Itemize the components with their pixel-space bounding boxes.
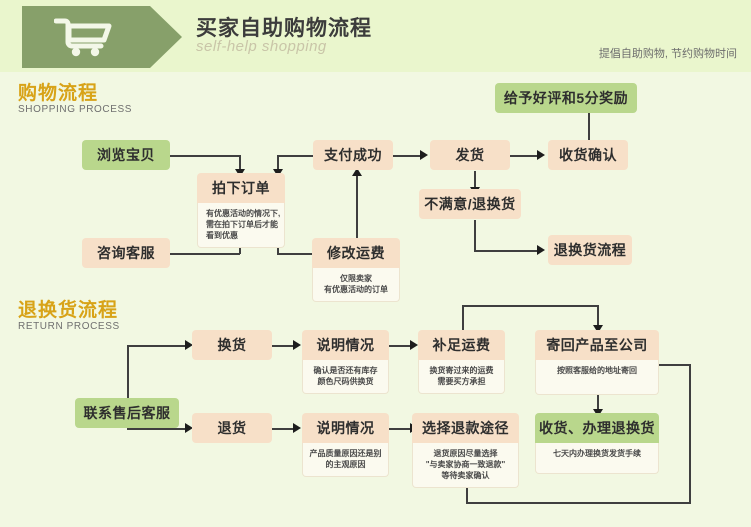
node-extra-freight[interactable]: 补足运费 换货寄过来的运费 需要买方承担 [418,330,505,394]
connector [389,428,412,430]
connector [588,112,590,140]
node-reward[interactable]: 给予好评和5分奖励 [495,83,637,113]
node-confirm-receipt[interactable]: 收货确认 [548,140,628,170]
connector [474,220,476,251]
node-extra-freight-note: 换货寄过来的运费 需要买方承担 [418,360,505,394]
arrowhead [537,150,545,160]
node-modify-freight-note: 仅限卖家 有优惠活动的订单 [312,268,400,302]
node-choose-refund-note: 退货原因尽量选择 "与卖家协商一致退款" 等待卖家确认 [412,443,519,488]
connector [127,428,187,430]
connector [356,175,358,240]
node-contact-service-label: 联系售后客服 [75,398,179,428]
node-send-back-label: 寄回产品至公司 [535,330,659,360]
header-tagline: 提倡自助购物, 节约购物时间 [599,45,737,61]
node-explain-refund-label: 说明情况 [302,413,389,443]
node-consult-label: 咨询客服 [82,238,170,268]
connector [272,345,295,347]
page-header: 买家自助购物流程 self-help shopping 提倡自助购物, 节约购物… [0,0,751,72]
page-subtitle: self-help shopping [196,38,327,55]
node-place-order-label: 拍下订单 [197,173,285,203]
node-pay-success-label: 支付成功 [313,140,393,170]
node-browse-label: 浏览宝贝 [82,140,170,170]
connector [462,305,464,333]
node-ship[interactable]: 发货 [430,140,510,170]
arrowhead [293,340,301,350]
node-dissatisfied[interactable]: 不满意/退换货 [419,189,521,219]
return-title-cn: 退换货流程 [18,300,120,321]
node-refund[interactable]: 退货 [192,413,272,443]
node-explain-refund[interactable]: 说明情况 产品质量原因还是别 的主观原因 [302,413,389,477]
return-title-en: RETURN PROCESS [18,321,120,333]
node-contact-service[interactable]: 联系售后客服 [75,398,179,428]
return-section-title: 退换货流程 RETURN PROCESS [18,300,120,333]
node-ship-label: 发货 [430,140,510,170]
node-refund-label: 退货 [192,413,272,443]
connector [466,502,690,504]
node-pay-success[interactable]: 支付成功 [313,140,393,170]
node-modify-freight[interactable]: 修改运费 仅限卖家 有优惠活动的订单 [312,238,400,302]
connector [474,250,538,252]
node-consult[interactable]: 咨询客服 [82,238,170,268]
node-confirm-receipt-label: 收货确认 [548,140,628,170]
node-return-flow-label: 退换货流程 [548,235,632,265]
shopping-title-cn: 购物流程 [18,83,132,104]
node-place-order[interactable]: 拍下订单 有优惠活动的情况下, 需在拍下订单后才能 看到优惠 [197,173,285,248]
infographic-page: 买家自助购物流程 self-help shopping 提倡自助购物, 节约购物… [0,0,751,527]
node-choose-refund-label: 选择退款途径 [412,413,519,443]
node-browse[interactable]: 浏览宝贝 [82,140,170,170]
node-receive-process-note: 七天内办理换货发货手续 [535,443,659,474]
connector [510,155,540,157]
node-receive-process[interactable]: 收货、办理退换货 七天内办理换货发货手续 [535,413,659,474]
arrowhead [293,423,301,433]
node-modify-freight-label: 修改运费 [312,238,400,268]
connector [689,364,691,504]
node-choose-refund[interactable]: 选择退款途径 退货原因尽量选择 "与卖家协商一致退款" 等待卖家确认 [412,413,519,488]
connector [389,345,412,347]
node-receive-process-label: 收货、办理退换货 [535,413,659,443]
shopping-title-en: SHOPPING PROCESS [18,104,132,116]
connector [393,155,423,157]
node-reward-label: 给予好评和5分奖励 [495,83,637,113]
node-extra-freight-label: 补足运费 [418,330,505,360]
arrowhead [420,150,428,160]
connector [170,155,240,157]
node-explain-exchange-label: 说明情况 [302,330,389,360]
connector [655,364,690,366]
connector [272,428,295,430]
node-explain-exchange-note: 确认是否还有库存 颜色尺码供换货 [302,360,389,394]
node-send-back[interactable]: 寄回产品至公司 按照客服给的地址寄回 [535,330,659,395]
node-exchange[interactable]: 换货 [192,330,272,360]
connector [127,345,187,347]
arrowhead [410,340,418,350]
shopping-cart-icon [54,17,116,57]
node-explain-exchange[interactable]: 说明情况 确认是否还有库存 颜色尺码供换货 [302,330,389,394]
node-return-flow[interactable]: 退换货流程 [548,235,632,265]
connector [170,253,240,255]
node-dissatisfied-label: 不满意/退换货 [419,189,521,219]
connector [597,305,599,327]
node-explain-refund-note: 产品质量原因还是别 的主观原因 [302,443,389,477]
arrowhead [537,245,545,255]
shopping-section-title: 购物流程 SHOPPING PROCESS [18,83,132,116]
node-exchange-label: 换货 [192,330,272,360]
node-send-back-note: 按照客服给的地址寄回 [535,360,659,395]
node-place-order-note: 有优惠活动的情况下, 需在拍下订单后才能 看到优惠 [197,203,285,248]
connector [462,305,598,307]
